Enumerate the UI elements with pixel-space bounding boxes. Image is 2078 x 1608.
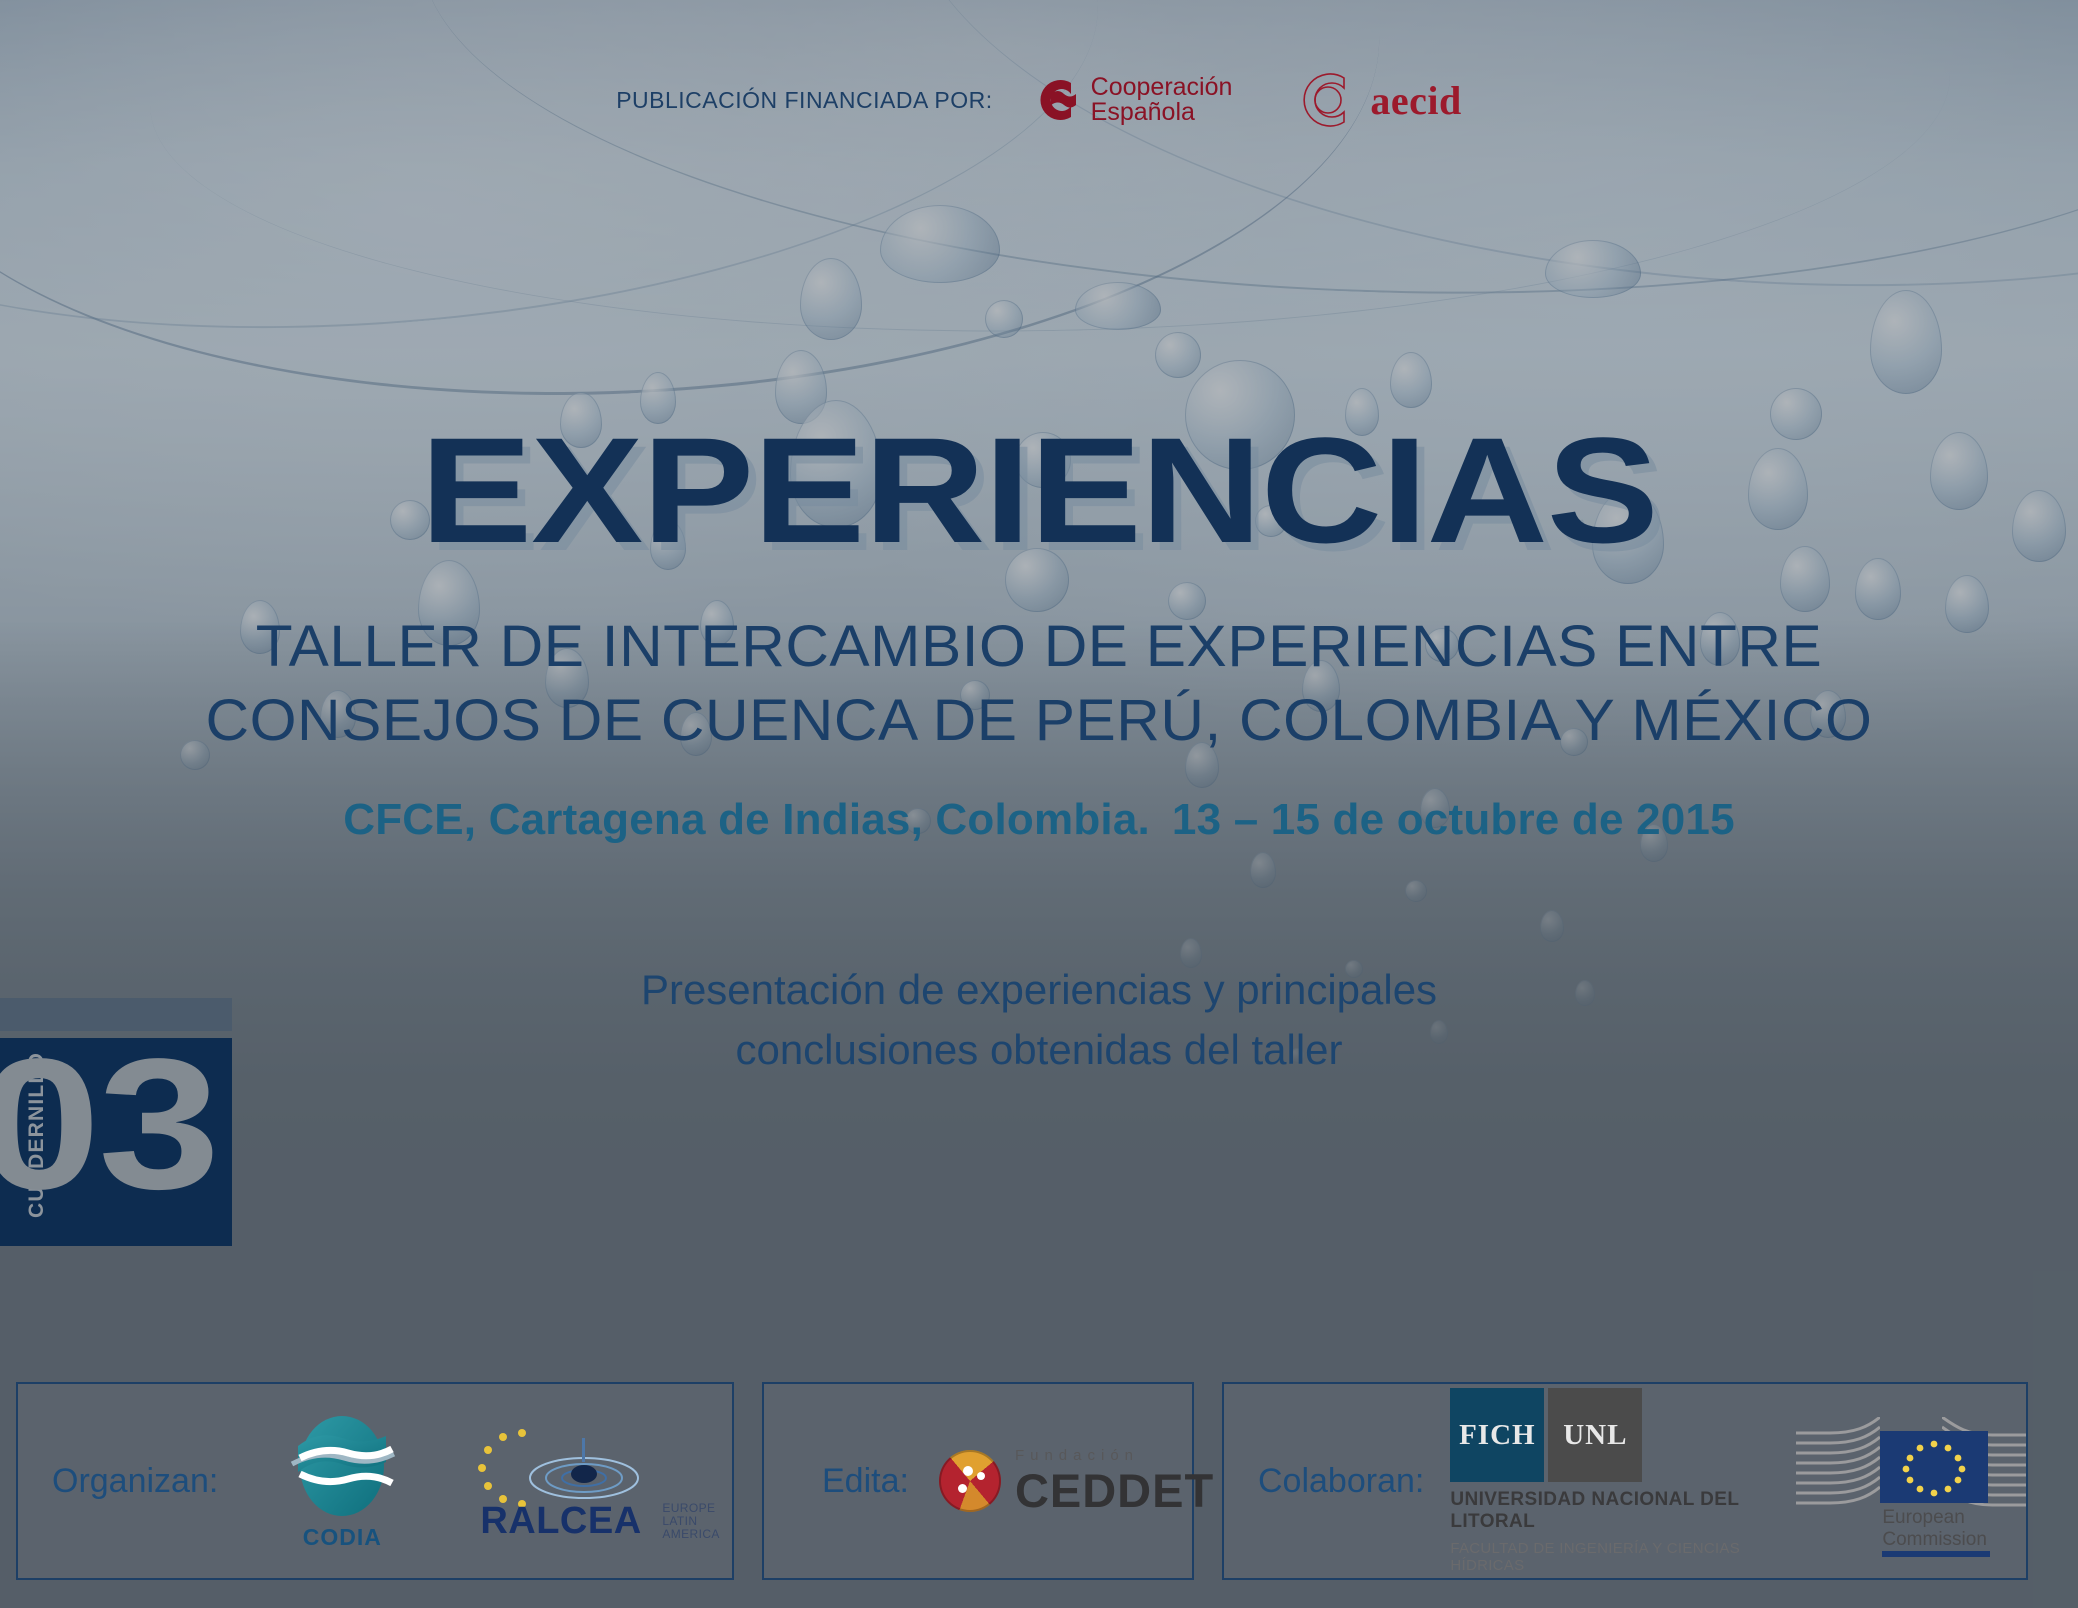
page-subtitle: TALLER DE INTERCAMBIO DE EXPERIENCIAS EN…: [0, 610, 2078, 758]
cooperacion-espanola-icon: [1027, 74, 1079, 126]
edita-box: Edita: Fundación CEDDET: [762, 1382, 1194, 1580]
partner-logo-strip: Organizan:: [0, 1382, 2078, 1580]
fich-square: FICH: [1450, 1388, 1544, 1482]
cooperacion-espanola-wordmark: Cooperación Española: [1091, 75, 1233, 126]
unl-faculty: FACULTAD DE INGENIERÍA Y CIENCIAS HÍDRIC…: [1450, 1540, 1770, 1574]
coop-line1: Cooperación: [1091, 75, 1233, 101]
ceddet-globe-icon: [939, 1450, 1001, 1512]
edita-label: Edita:: [822, 1462, 909, 1501]
organizan-label: Organizan:: [52, 1462, 218, 1501]
ec-underline: [1882, 1551, 1990, 1557]
page-title: EXPERIENCIAS: [0, 415, 2078, 565]
ralcea-tagline-line1: EUROPE: [662, 1502, 719, 1515]
ceddet-logo: Fundación CEDDET: [939, 1448, 1214, 1514]
codia-icon: [254, 1412, 430, 1520]
organizan-box: Organizan:: [16, 1382, 734, 1580]
eu-flag-icon: [1880, 1431, 1988, 1503]
cooperacion-espanola-logo: Cooperación Española: [1027, 74, 1233, 126]
cuadernillo-number: 03: [0, 1032, 218, 1218]
dates-text: 13 – 15 de octubre de 2015: [1172, 795, 1735, 844]
ceddet-fundacion-label: Fundación: [1015, 1448, 1214, 1463]
aecid-logo: aecid: [1292, 68, 1461, 132]
colaboran-box: Colaboran: FICH UNL UNIVERSIDAD NACIONAL…: [1222, 1382, 2028, 1580]
water-drop-ripple-icon: [524, 1432, 644, 1506]
ralcea-logo: RALCEA EUROPE LATIN AMERICA: [466, 1422, 716, 1540]
european-commission-logo: European Commission: [1796, 1413, 2026, 1549]
venue-and-dates: CFCE, Cartagena de Indias, Colombia.13 –…: [0, 795, 2078, 845]
unl-square: UNL: [1548, 1388, 1642, 1482]
codia-wordmark: CODIA: [303, 1524, 382, 1551]
venue-text: CFCE, Cartagena de Indias, Colombia.: [343, 795, 1150, 844]
ralcea-tagline: EUROPE LATIN AMERICA: [662, 1502, 719, 1541]
ralcea-tagline-line2: LATIN AMERICA: [662, 1515, 719, 1541]
fich-unl-logo: FICH UNL UNIVERSIDAD NACIONAL DEL LITORA…: [1450, 1388, 1770, 1574]
ceddet-wordmark: Fundación CEDDET: [1015, 1448, 1214, 1514]
coop-line2: Española: [1091, 100, 1233, 126]
document-cover: PUBLICACIÓN FINANCIADA POR: Cooperación …: [0, 0, 2078, 1608]
aecid-wordmark: aecid: [1370, 77, 1461, 124]
european-commission-wordmark: European Commission: [1882, 1507, 1987, 1550]
aecid-icon: [1292, 68, 1356, 132]
cuadernillo-badge: CUADERNILLO 03: [0, 1038, 232, 1246]
funders-header: PUBLICACIÓN FINANCIADA POR: Cooperación …: [0, 60, 2078, 140]
subtitle-line-2: CONSEJOS DE CUENCA DE PERÚ, COLOMBIA Y M…: [0, 684, 2078, 758]
codia-logo: CODIA: [254, 1412, 430, 1551]
fich-unl-squares: FICH UNL: [1450, 1388, 1770, 1482]
unl-name: UNIVERSIDAD NACIONAL DEL LITORAL: [1450, 1489, 1770, 1533]
colaboran-label: Colaboran:: [1258, 1462, 1424, 1501]
ceddet-name: CEDDET: [1015, 1467, 1214, 1514]
cover-description: Presentación de experiencias y principal…: [0, 960, 2078, 1079]
description-line-2: conclusiones obtenidas del taller: [0, 1020, 2078, 1080]
description-line-1: Presentación de experiencias y principal…: [0, 960, 2078, 1020]
ec-line-2: Commission: [1882, 1529, 1987, 1551]
ec-swoosh-left-icon: [1796, 1417, 1880, 1513]
ec-line-1: European: [1882, 1507, 1987, 1529]
ralcea-wordmark: RALCEA: [480, 1500, 641, 1543]
financed-by-label: PUBLICACIÓN FINANCIADA POR:: [616, 87, 992, 114]
subtitle-line-1: TALLER DE INTERCAMBIO DE EXPERIENCIAS EN…: [0, 610, 2078, 684]
